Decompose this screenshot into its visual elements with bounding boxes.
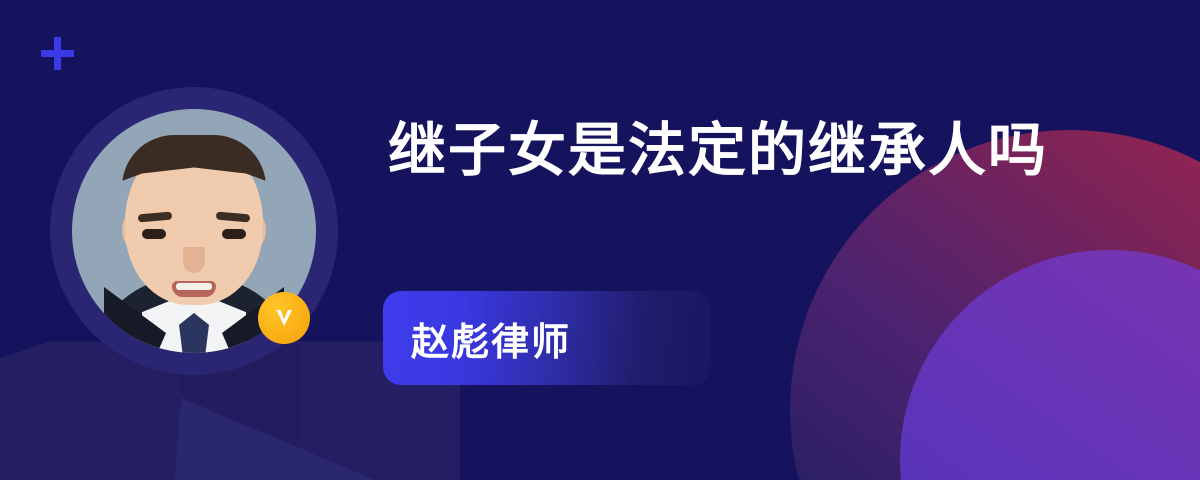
portrait-teeth (176, 283, 212, 290)
verified-v-badge-icon (258, 292, 310, 344)
lawyer-name-button[interactable]: 赵彪律师 (383, 291, 711, 385)
lawyer-qa-banner-card: 继子女是法定的继承人吗 赵彪律师 (0, 0, 1200, 480)
page-title: 继子女是法定的继承人吗 (388, 122, 1048, 180)
portrait-eye-left (142, 229, 166, 239)
bottom-left-triangle-shape (175, 398, 375, 480)
portrait-nose (183, 247, 205, 273)
portrait-eye-right (222, 229, 246, 239)
plus-icon (41, 37, 74, 70)
bottom-right-inner-circle (900, 250, 1200, 480)
